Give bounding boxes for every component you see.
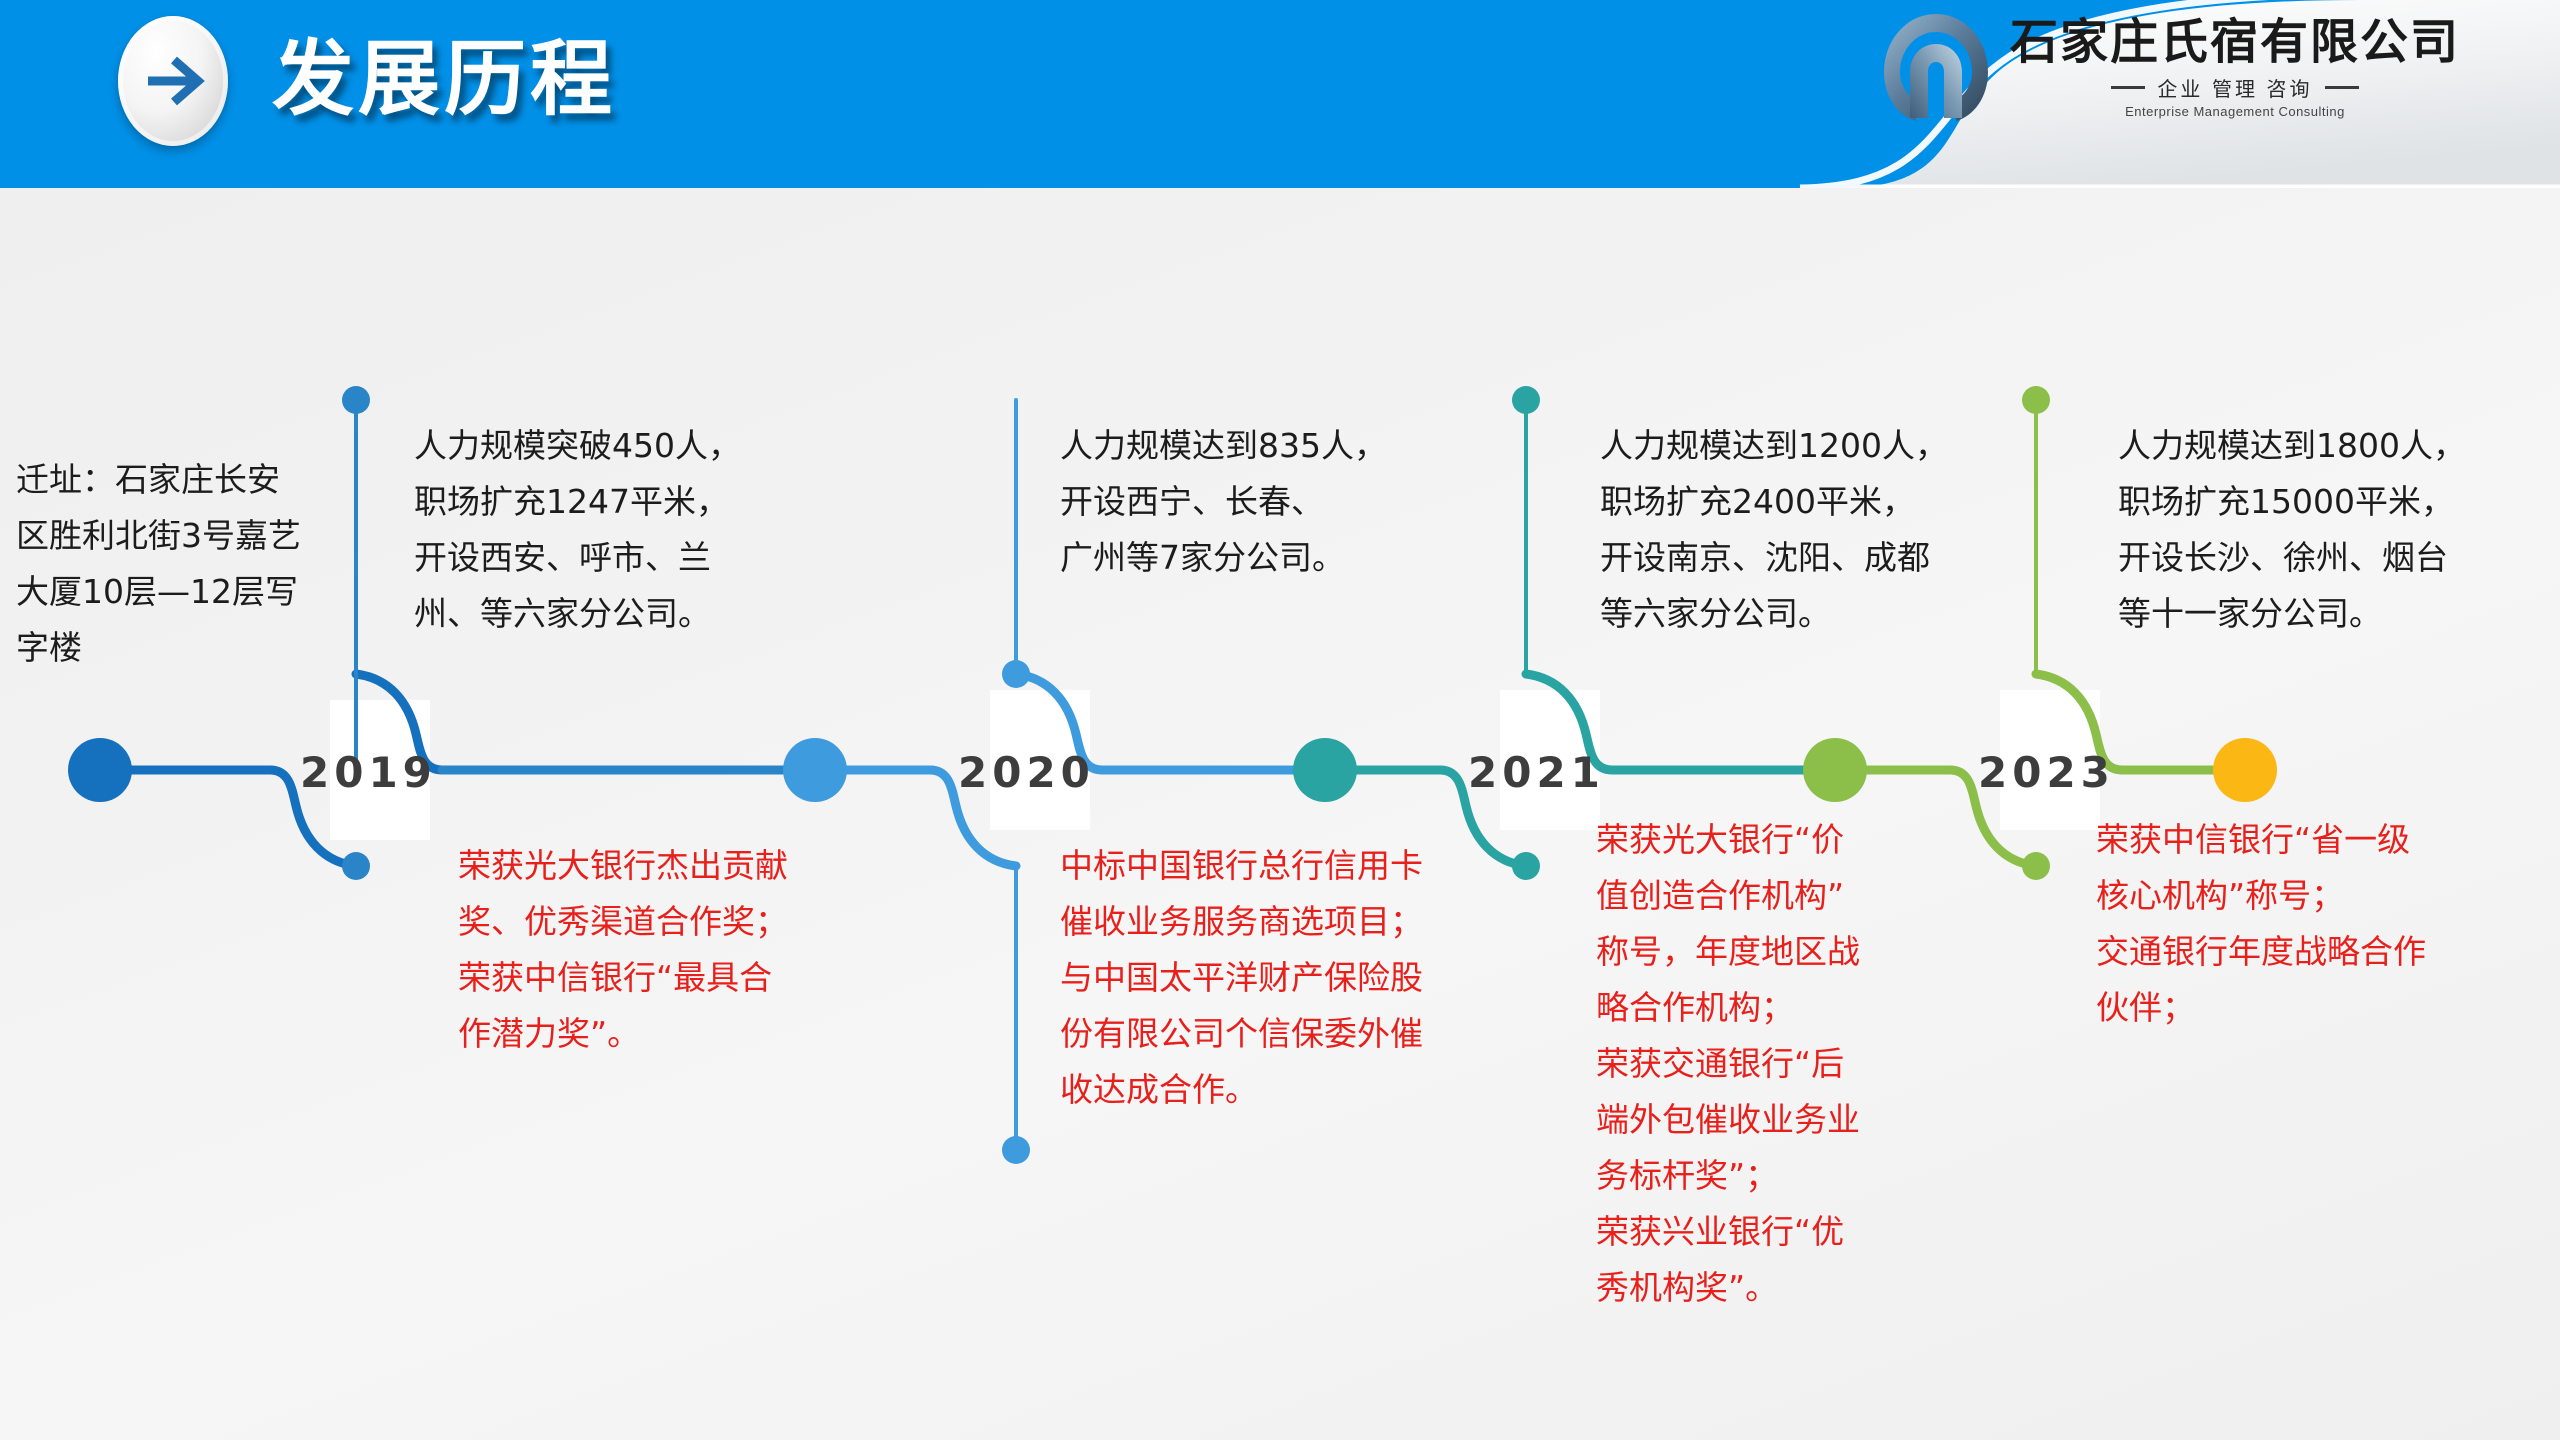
logo-company-name: 石家庄氏宿有限公司	[2010, 15, 2460, 69]
timeline-graphic	[0, 0, 2560, 1440]
page-header: 发展历程 石家庄氏宿有限公司 企业 管理	[0, 0, 2560, 188]
node-2021	[1803, 738, 1867, 802]
logo-rule-left	[2111, 86, 2145, 89]
milestone-2019-above: 人力规模突破450人， 职场扩充1247平米， 开设西安、呼市、兰 州、等六家分…	[414, 418, 834, 642]
arch-monogram-icon	[1876, 8, 1996, 126]
node-2019	[783, 738, 847, 802]
logo-rule-right	[2325, 86, 2359, 89]
logo-subtitle-cn: 企业 管理 咨询	[2157, 73, 2312, 102]
node-2023	[2213, 738, 2277, 802]
year-label-2020: 2020	[958, 748, 1095, 797]
logo-subtitle-en: Enterprise Management Consulting	[2125, 104, 2345, 119]
year-label-2023: 2023	[1978, 748, 2115, 797]
year-label-2019: 2019	[300, 748, 437, 797]
milestone-2020-below: 中标中国银行总行信用卡 催收业务服务商选项目； 与中国太平洋财产保险股 份有限公…	[1060, 838, 1510, 1118]
node-2020	[1293, 738, 1357, 802]
intro-text: 迁址：石家庄长安 区胜利北街3号嘉艺 大厦10层—12层写 字楼	[16, 452, 346, 676]
logo-subtitle-row: 企业 管理 咨询	[2111, 73, 2358, 102]
milestone-2023-above: 人力规模达到1800人， 职场扩充15000平米， 开设长沙、徐州、烟台 等十一…	[2118, 418, 2538, 642]
arrow-right-icon	[118, 16, 228, 146]
milestone-2019-below: 荣获光大银行杰出贡献 奖、优秀渠道合作奖； 荣获中信银行“最具合 作潜力奖”。	[458, 838, 898, 1062]
milestone-2021-below: 荣获光大银行“价 值创造合作机构” 称号，年度地区战 略合作机构； 荣获交通银行…	[1596, 812, 1936, 1316]
milestone-2021-above: 人力规模达到1200人， 职场扩充2400平米， 开设南京、沈阳、成都 等六家分…	[1600, 418, 2010, 642]
milestone-2023-below: 荣获中信银行“省一级 核心机构”称号； 交通银行年度战略合作 伙伴；	[2096, 812, 2526, 1036]
page-title: 发展历程	[272, 26, 616, 134]
milestone-2020-above: 人力规模达到835人， 开设西宁、长春、 广州等7家分公司。	[1060, 418, 1480, 586]
company-logo: 石家庄氏宿有限公司 企业 管理 咨询 Enterprise Management…	[1876, 8, 2460, 126]
node-start	[68, 738, 132, 802]
year-label-2021: 2021	[1468, 748, 1605, 797]
